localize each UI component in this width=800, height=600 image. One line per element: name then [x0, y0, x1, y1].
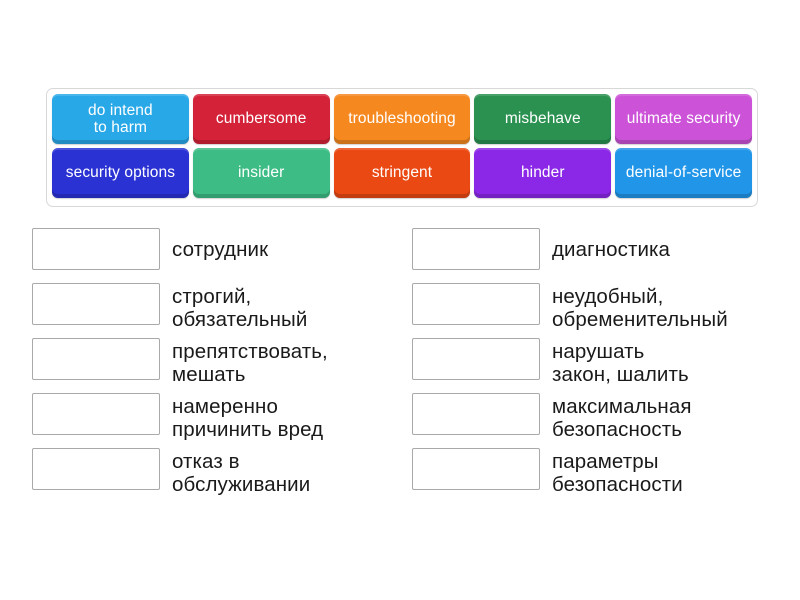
drop-target[interactable]: [32, 338, 160, 380]
tile-bank-row-2: security options insider stringent hinde…: [52, 148, 752, 198]
drop-target[interactable]: [412, 228, 540, 270]
drop-target[interactable]: [32, 393, 160, 435]
answer-row: сотрудник: [32, 228, 422, 283]
answer-label: неудобный, обременительный: [552, 283, 728, 332]
answer-row: намеренно причинить вред: [32, 393, 422, 448]
tile-label: insider: [238, 164, 284, 181]
answer-label: отказ в обслуживании: [172, 448, 310, 497]
answer-column-left: сотрудник строгий, обязательный препятст…: [32, 228, 422, 503]
answer-row: строгий, обязательный: [32, 283, 422, 338]
answer-label: нарушать закон, шалить: [552, 338, 689, 387]
tile-label: cumbersome: [216, 110, 307, 127]
tile-label: hinder: [521, 164, 565, 181]
drop-target[interactable]: [412, 338, 540, 380]
answer-label: максимальная безопасность: [552, 393, 692, 442]
answer-label: строгий, обязательный: [172, 283, 307, 332]
answer-label: намеренно причинить вред: [172, 393, 323, 442]
answer-row: препятствовать, мешать: [32, 338, 422, 393]
answer-label: препятствовать, мешать: [172, 338, 328, 387]
drop-target[interactable]: [32, 228, 160, 270]
draggable-tile[interactable]: ultimate security: [615, 94, 752, 144]
tile-label: troubleshooting: [348, 110, 456, 127]
answer-row: диагностика: [412, 228, 800, 283]
draggable-tile[interactable]: hinder: [474, 148, 611, 198]
tile-label: ultimate security: [627, 110, 741, 127]
answer-row: параметры безопасности: [412, 448, 800, 503]
tile-label: stringent: [372, 164, 432, 181]
answer-row: нарушать закон, шалить: [412, 338, 800, 393]
tile-label: security options: [66, 164, 175, 181]
answer-row: отказ в обслуживании: [32, 448, 422, 503]
tile-bank: do intend to harm cumbersome troubleshoo…: [46, 88, 758, 207]
draggable-tile[interactable]: cumbersome: [193, 94, 330, 144]
answer-label: параметры безопасности: [552, 448, 683, 497]
draggable-tile[interactable]: troubleshooting: [334, 94, 471, 144]
draggable-tile[interactable]: security options: [52, 148, 189, 198]
draggable-tile[interactable]: do intend to harm: [52, 94, 189, 144]
answer-column-right: диагностика неудобный, обременительный н…: [412, 228, 800, 503]
answer-label: диагностика: [552, 228, 670, 261]
drop-target[interactable]: [412, 283, 540, 325]
answer-row: максимальная безопасность: [412, 393, 800, 448]
tile-label: misbehave: [505, 110, 581, 127]
drop-target[interactable]: [32, 448, 160, 490]
drop-target[interactable]: [32, 283, 160, 325]
draggable-tile[interactable]: denial-of-service: [615, 148, 752, 198]
draggable-tile[interactable]: insider: [193, 148, 330, 198]
tile-label: do intend to harm: [88, 102, 153, 137]
drop-target[interactable]: [412, 393, 540, 435]
drop-target[interactable]: [412, 448, 540, 490]
answer-label: сотрудник: [172, 228, 268, 261]
tile-label: denial-of-service: [626, 164, 741, 181]
answer-row: неудобный, обременительный: [412, 283, 800, 338]
tile-bank-row-1: do intend to harm cumbersome troubleshoo…: [52, 94, 752, 144]
draggable-tile[interactable]: misbehave: [474, 94, 611, 144]
draggable-tile[interactable]: stringent: [334, 148, 471, 198]
